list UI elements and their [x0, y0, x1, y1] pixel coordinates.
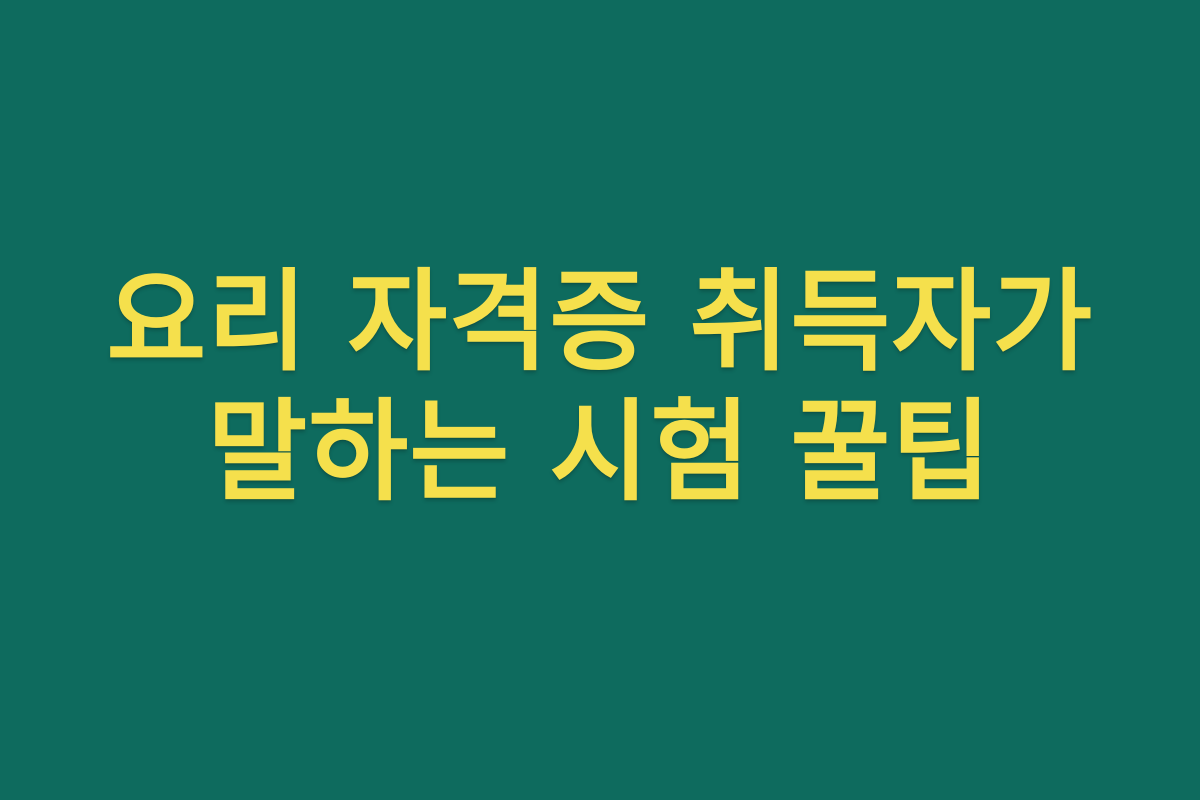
headline-line-2: 말하는 시험 꿀팁 — [48, 388, 1151, 518]
banner-canvas: 요리 자격증 취득자가 말하는 시험 꿀팁 — [0, 0, 1200, 800]
headline-block: 요리 자격증 취득자가 말하는 시험 꿀팁 — [0, 258, 1200, 518]
headline-line-1: 요리 자격증 취득자가 — [48, 258, 1151, 388]
